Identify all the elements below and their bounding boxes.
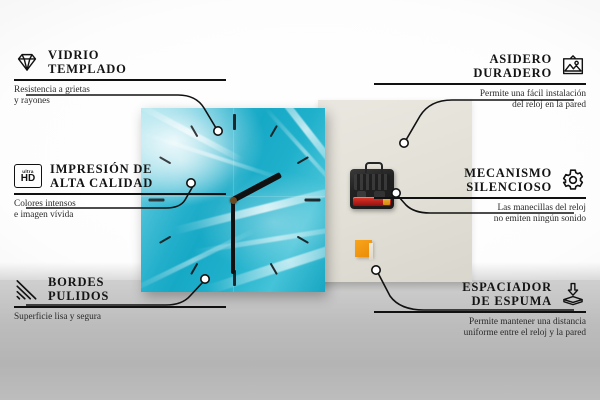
callout-rule xyxy=(14,79,226,81)
callout-title: MECANISMO SILENCIOSO xyxy=(464,166,552,194)
callout-title: IMPRESIÓN DE ALTA CALIDAD xyxy=(50,162,153,190)
callout-header: BORDES PULIDOS xyxy=(14,275,226,303)
callout-title: VIDRIO TEMPLADO xyxy=(48,48,127,76)
callout-rule xyxy=(374,197,586,199)
callout-impresion-alta-calidad: ultra HD IMPRESIÓN DE ALTA CALIDAD Color… xyxy=(14,162,226,221)
callout-rule xyxy=(374,83,586,85)
callout-header: ultra HD IMPRESIÓN DE ALTA CALIDAD xyxy=(14,162,226,190)
hd-label: HD xyxy=(21,174,35,184)
callout-rule xyxy=(14,306,226,308)
callout-title: ESPACIADOR DE ESPUMA xyxy=(462,280,552,308)
callout-espaciador-espuma: ESPACIADOR DE ESPUMA Permite mantener un… xyxy=(374,280,586,339)
diamond-icon xyxy=(14,49,40,75)
polished-edge-icon xyxy=(14,276,40,302)
foam-spacer-icon xyxy=(560,281,586,307)
callout-vidrio-templado: VIDRIO TEMPLADO Resistencia a grietas y … xyxy=(14,48,226,107)
callout-rule xyxy=(14,193,226,195)
callout-mecanismo-silencioso: MECANISMO SILENCIOSO Las manecillas del … xyxy=(374,166,586,225)
callout-bordes-pulidos: BORDES PULIDOS Superficie lisa y segura xyxy=(14,275,226,323)
callout-header: VIDRIO TEMPLADO xyxy=(14,48,226,76)
callout-header: ESPACIADOR DE ESPUMA xyxy=(374,280,586,308)
picture-hanger-icon xyxy=(560,53,586,79)
callout-asidero-duradero: ASIDERO DURADERO Permite una fácil insta… xyxy=(374,52,586,111)
callout-rule xyxy=(374,311,586,313)
foam-spacer-piece xyxy=(355,240,372,257)
callout-header: ASIDERO DURADERO xyxy=(374,52,586,80)
callout-header: MECANISMO SILENCIOSO xyxy=(374,166,586,194)
callout-title: ASIDERO DURADERO xyxy=(473,52,552,80)
infographic-canvas: VIDRIO TEMPLADO Resistencia a grietas y … xyxy=(0,0,600,400)
ultra-hd-badge-icon: ultra HD xyxy=(14,164,42,188)
gear-icon xyxy=(560,167,586,193)
callout-title: BORDES PULIDOS xyxy=(48,275,109,303)
